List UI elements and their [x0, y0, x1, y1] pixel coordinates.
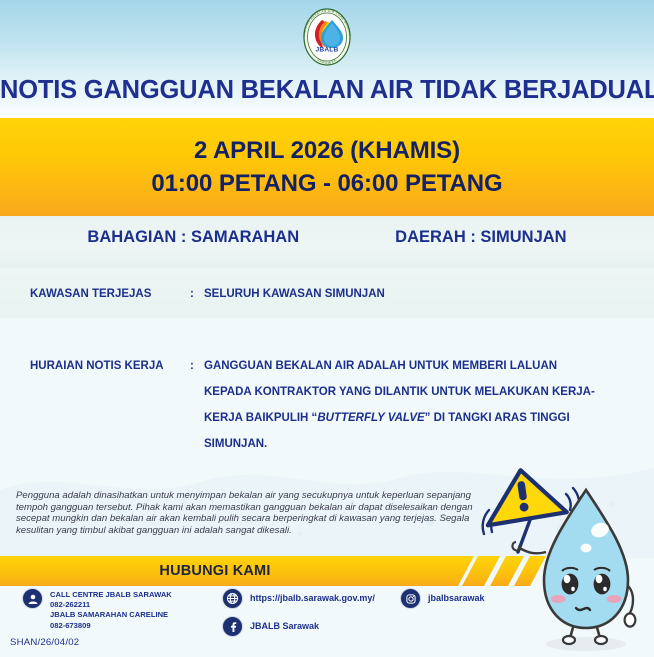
work-description-line-1: GANGGUAN BEKALAN AIR ADALAH UNTUK MEMBER… — [204, 360, 604, 386]
contact-item-call-centre[interactable]: CALL CENTRE JBALB SARAWAK 082-262211 JBA… — [22, 588, 172, 631]
jbalb-sarawak-logo: JABATAN BEKALAN AIR LUAR BANDAR SARAWAK … — [296, 6, 358, 68]
globe-icon — [222, 588, 243, 609]
contact-item-facebook[interactable]: JBALB Sarawak — [222, 616, 319, 637]
contact-banner-label: HUBUNGI KAMI — [0, 556, 430, 586]
work-description-line-3: KERJA BAIKPULIH “BUTTERFLY VALVE” DI TAN… — [204, 412, 604, 438]
contact-item-website[interactable]: https://jbalb.sarawak.gov.my/ — [222, 588, 375, 609]
affected-area-value: SELURUH KAWASAN SIMUNJAN — [204, 288, 385, 300]
call-centre-line-3: JBALB SAMARAHAN CARELINE — [50, 610, 168, 619]
call-centre-line-2: 082-262211 — [50, 600, 90, 609]
bahagian-label: BAHAGIAN : SAMARAHAN — [87, 228, 299, 247]
contact-item-instagram[interactable]: jbalbsarawak — [400, 588, 485, 609]
notice-date: 2 APRIL 2026 (KHAMIS) — [194, 137, 460, 165]
warning-triangle-icon — [481, 468, 567, 525]
phone-person-icon — [22, 588, 43, 609]
facebook-icon — [222, 616, 243, 637]
svg-text:JBALB: JBALB — [316, 47, 339, 54]
line3-prefix: KERJA BAIKPULIH “ — [204, 412, 317, 424]
call-centre-line-1: CALL CENTRE JBALB SARAWAK — [50, 590, 172, 599]
work-description-row: HURAIAN NOTIS KERJA : GANGGUAN BEKALAN A… — [30, 360, 630, 464]
work-description-colon: : — [190, 360, 204, 372]
affected-area-colon: : — [190, 288, 204, 300]
butterfly-valve-term: BUTTERFLY VALVE — [317, 412, 424, 424]
affected-area-label: KAWASAN TERJEJAS — [30, 288, 190, 300]
daerah-label: DAERAH : SIMUNJAN — [395, 228, 566, 247]
division-row: BAHAGIAN : SAMARAHAN DAERAH : SIMUNJAN — [0, 228, 654, 247]
water-disruption-notice-poster: JABATAN BEKALAN AIR LUAR BANDAR SARAWAK … — [0, 0, 654, 657]
notice-time: 01:00 PETANG - 06:00 PETANG — [151, 170, 502, 198]
reference-code: SHAN/26/04/02 — [10, 637, 79, 648]
line3-suffix: ” DI TANGKI ARAS TINGGI — [425, 412, 570, 424]
date-time-banner: 2 APRIL 2026 (KHAMIS) 01:00 PETANG - 06:… — [0, 118, 654, 216]
poster-header: JABATAN BEKALAN AIR LUAR BANDAR SARAWAK … — [0, 0, 654, 118]
website-url: https://jbalb.sarawak.gov.my/ — [250, 588, 375, 603]
page-title: NOTIS GANGGUAN BEKALAN AIR TIDAK BERJADU… — [0, 76, 654, 105]
advisory-disclaimer-text: Pengguna adalah dinasihatkan untuk menyi… — [16, 490, 478, 536]
work-description-body: GANGGUAN BEKALAN AIR ADALAH UNTUK MEMBER… — [204, 360, 604, 464]
affected-area-row: KAWASAN TERJEJAS : SELURUH KAWASAN SIMUN… — [30, 288, 385, 300]
work-description-line-4: SIMUNJAN. — [204, 438, 604, 464]
call-centre-line-4: 082-673809 — [50, 621, 91, 630]
work-description-label: HURAIAN NOTIS KERJA — [30, 360, 190, 372]
facebook-handle: JBALB Sarawak — [250, 616, 319, 631]
call-centre-text: CALL CENTRE JBALB SARAWAK 082-262211 JBA… — [50, 588, 172, 631]
instagram-icon — [400, 588, 421, 609]
instagram-handle: jbalbsarawak — [428, 588, 485, 603]
work-description-line-2: KEPADA KONTRAKTOR YANG DILANTIK UNTUK ME… — [204, 386, 604, 412]
contact-details: CALL CENTRE JBALB SARAWAK 082-262211 JBA… — [0, 588, 654, 646]
